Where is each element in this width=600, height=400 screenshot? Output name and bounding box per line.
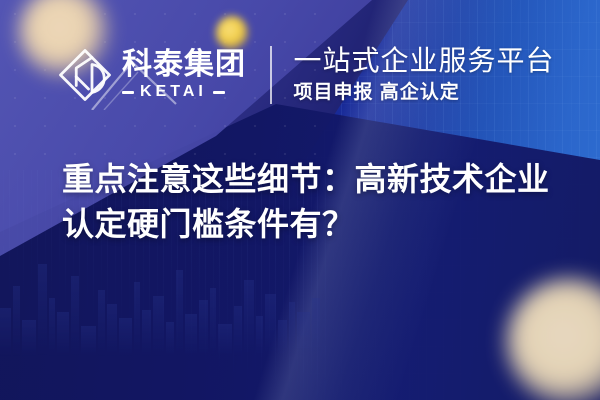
brand-name-cn: 科泰集团 xyxy=(122,50,246,80)
brand-logo[interactable]: 科泰集团 KETAI xyxy=(57,47,246,103)
tagline-sub: 项目申报 高企认定 xyxy=(294,83,555,104)
tagline-block: 一站式企业服务平台 项目申报 高企认定 xyxy=(294,46,555,103)
brand-name-en: KETAI xyxy=(140,84,207,100)
brand-logo-text: 科泰集团 KETAI xyxy=(122,50,246,100)
promo-banner: 科泰集团 KETAI 一站式企业服务平台 项目申报 高企认定 重点注意这些细节：… xyxy=(0,0,600,400)
dash-left-icon xyxy=(122,91,134,94)
page-title-line-2: 认定硬门槛条件有？ xyxy=(62,202,562,247)
dash-right-icon xyxy=(213,91,225,94)
tagline-main: 一站式企业服务平台 xyxy=(294,46,555,76)
brand-name-en-row: KETAI xyxy=(122,84,246,100)
vertical-divider xyxy=(270,46,272,104)
skyline-blocks xyxy=(0,236,330,356)
ketai-diamond-monogram-icon xyxy=(57,47,113,103)
page-title: 重点注意这些细节：高新技术企业 认定硬门槛条件有？ xyxy=(62,157,562,248)
page-title-line-1: 重点注意这些细节：高新技术企业 xyxy=(62,157,562,202)
banner-header: 科泰集团 KETAI 一站式企业服务平台 项目申报 高企认定 xyxy=(0,38,600,112)
